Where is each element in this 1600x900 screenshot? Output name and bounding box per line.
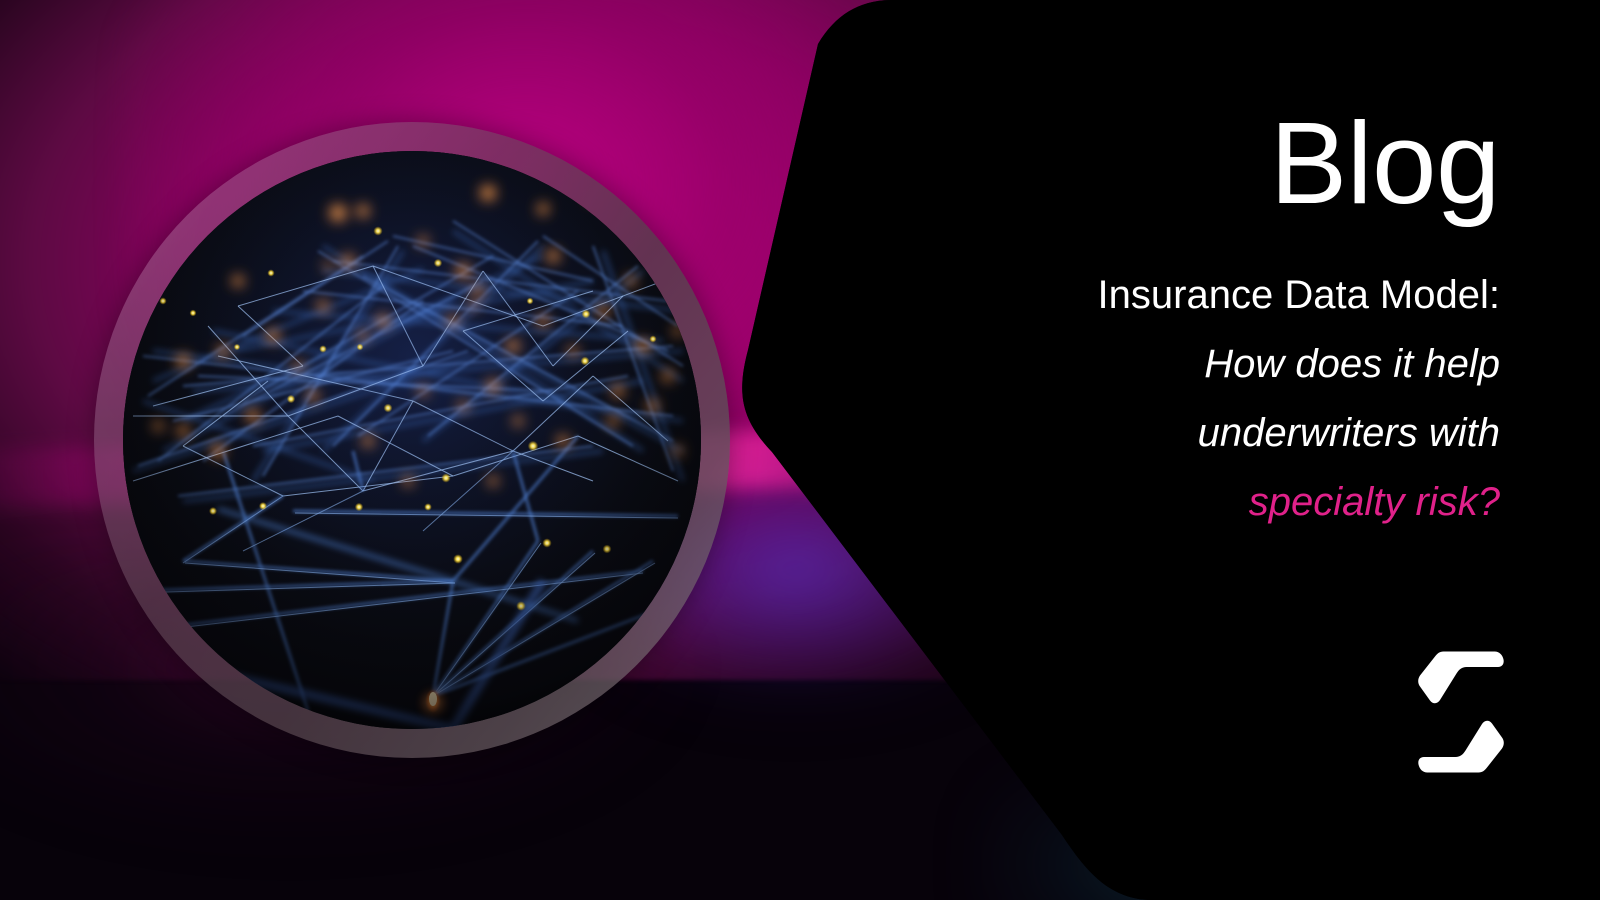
background-teal-glow	[980, 760, 1460, 900]
banner-subtitle: Insurance Data Model: How does it help u…	[940, 261, 1500, 536]
angular-s-logo[interactable]	[1418, 648, 1504, 776]
page-title: Blog	[940, 108, 1500, 219]
network-graph-circle	[94, 122, 730, 758]
subtitle-line-2: How does it help	[940, 330, 1500, 399]
banner-text-block: Blog Insurance Data Model: How does it h…	[940, 108, 1500, 537]
blog-banner: Blog Insurance Data Model: How does it h…	[0, 0, 1600, 900]
subtitle-line-3: underwriters with	[940, 399, 1500, 468]
network-graph-svg	[123, 151, 701, 729]
circle-inner-image	[123, 151, 701, 729]
subtitle-line-1: Insurance Data Model:	[940, 261, 1500, 330]
subtitle-line-4-accent: specialty risk?	[940, 468, 1500, 537]
